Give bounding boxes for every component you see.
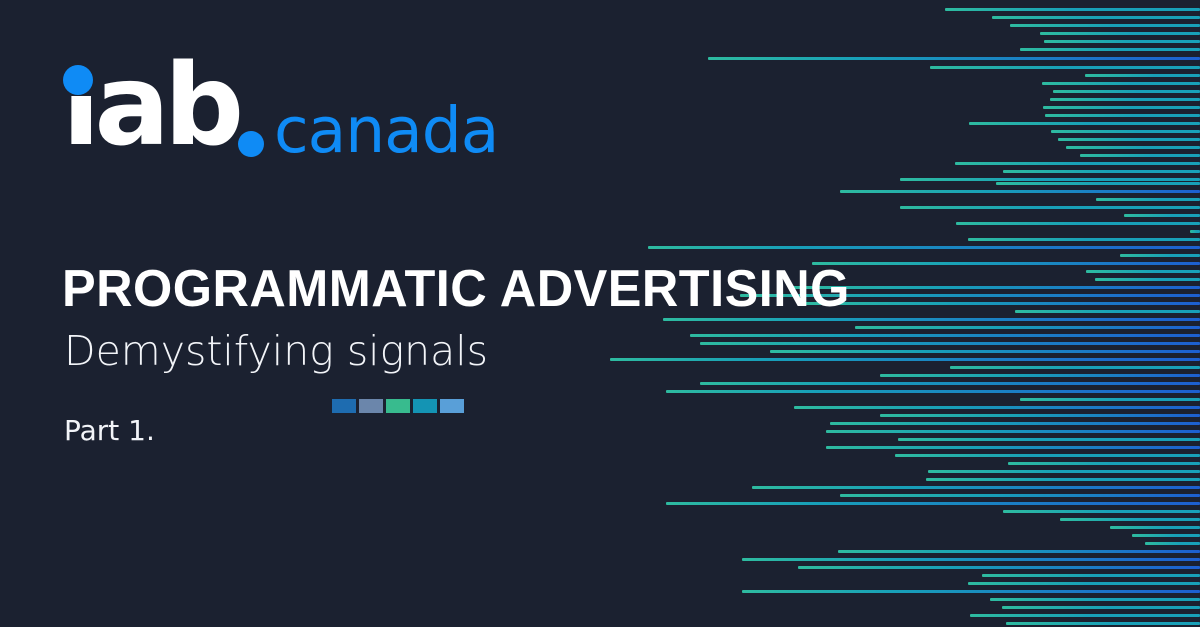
swatch-lightblue (440, 399, 464, 413)
signal-line (800, 302, 1200, 305)
signal-line (1060, 518, 1200, 521)
logo-region-label: canada (274, 99, 498, 162)
signal-line (794, 406, 1200, 409)
signal-line (895, 454, 1200, 457)
page-subtitle: Demystifying signals (64, 329, 822, 374)
signal-line (1145, 542, 1200, 545)
poster-canvas: iab canada PROGRAMMATIC ADVERTISING Demy… (0, 0, 1200, 627)
signal-line (880, 374, 1200, 377)
signal-line (708, 57, 1200, 60)
signal-line (950, 366, 1200, 369)
signal-line (1051, 130, 1200, 133)
signal-line (830, 422, 1200, 425)
signal-line (1096, 198, 1200, 201)
signal-line (1002, 606, 1200, 609)
signal-line (1045, 114, 1200, 117)
signal-line (1085, 74, 1200, 77)
signal-line (926, 478, 1200, 481)
signal-line (1124, 214, 1200, 217)
signal-line (1003, 170, 1200, 173)
signal-line (1066, 146, 1200, 149)
signal-line (812, 262, 1200, 265)
color-swatch-bar (332, 399, 464, 413)
signal-line (930, 66, 1200, 69)
signal-line (826, 446, 1200, 449)
signal-line (968, 582, 1200, 585)
signal-line (996, 182, 1200, 185)
signal-line (1120, 254, 1200, 257)
signal-line (1095, 278, 1200, 281)
signal-line (990, 598, 1200, 601)
signal-line (700, 382, 1200, 385)
swatch-blue (332, 399, 356, 413)
signal-line (1003, 510, 1200, 513)
signal-line (1020, 398, 1200, 401)
signal-line (880, 414, 1200, 417)
signal-line (1006, 622, 1200, 625)
signal-line (1040, 32, 1200, 35)
part-label: Part 1. (64, 414, 155, 447)
signal-line (1132, 534, 1200, 537)
signal-line (792, 286, 1200, 289)
signal-line (840, 190, 1200, 193)
signal-line (1080, 154, 1200, 157)
signal-line (898, 438, 1200, 441)
signal-line (982, 574, 1200, 577)
iab-canada-logo[interactable]: iab canada (62, 58, 462, 168)
signal-line (770, 350, 1200, 353)
signal-line (855, 326, 1200, 329)
swatch-slate (359, 399, 383, 413)
signal-line (826, 430, 1200, 433)
logo-lockup: iab canada (62, 58, 462, 168)
headline-block: PROGRAMMATIC ADVERTISING Demystifying si… (62, 262, 822, 374)
signal-line (1058, 138, 1200, 141)
signal-line (1044, 40, 1200, 43)
signal-line (1110, 526, 1200, 529)
signal-line (900, 206, 1200, 209)
logo-i-dot-icon (63, 65, 93, 95)
signal-line (969, 122, 1200, 125)
signal-line (900, 178, 1200, 181)
signal-line (945, 8, 1200, 11)
signal-line (1043, 106, 1200, 109)
signal-line (970, 614, 1200, 617)
signal-line (956, 222, 1200, 225)
signal-line (992, 16, 1200, 19)
page-title: PROGRAMMATIC ADVERTISING (62, 262, 799, 317)
signal-line (955, 162, 1200, 165)
logo-separator-dot-icon (238, 131, 264, 157)
signal-line (1053, 90, 1200, 93)
signal-line (648, 246, 1200, 249)
signal-line (838, 550, 1200, 553)
signal-line (1020, 48, 1200, 51)
signal-line (742, 558, 1200, 561)
signal-line (1050, 98, 1200, 101)
swatch-teal (413, 399, 437, 413)
signal-line (666, 390, 1200, 393)
signal-line (798, 566, 1200, 569)
signal-line (742, 590, 1200, 593)
signal-line (752, 486, 1200, 489)
signal-line (666, 502, 1200, 505)
signal-line (1086, 270, 1200, 273)
signal-line (1190, 230, 1200, 233)
signal-line (928, 470, 1200, 473)
signal-line (1015, 310, 1200, 313)
swatch-green (386, 399, 410, 413)
signal-line (1042, 82, 1200, 85)
signal-line (1008, 462, 1200, 465)
signal-line (1010, 24, 1200, 27)
signal-line (840, 494, 1200, 497)
signal-line (968, 238, 1200, 241)
